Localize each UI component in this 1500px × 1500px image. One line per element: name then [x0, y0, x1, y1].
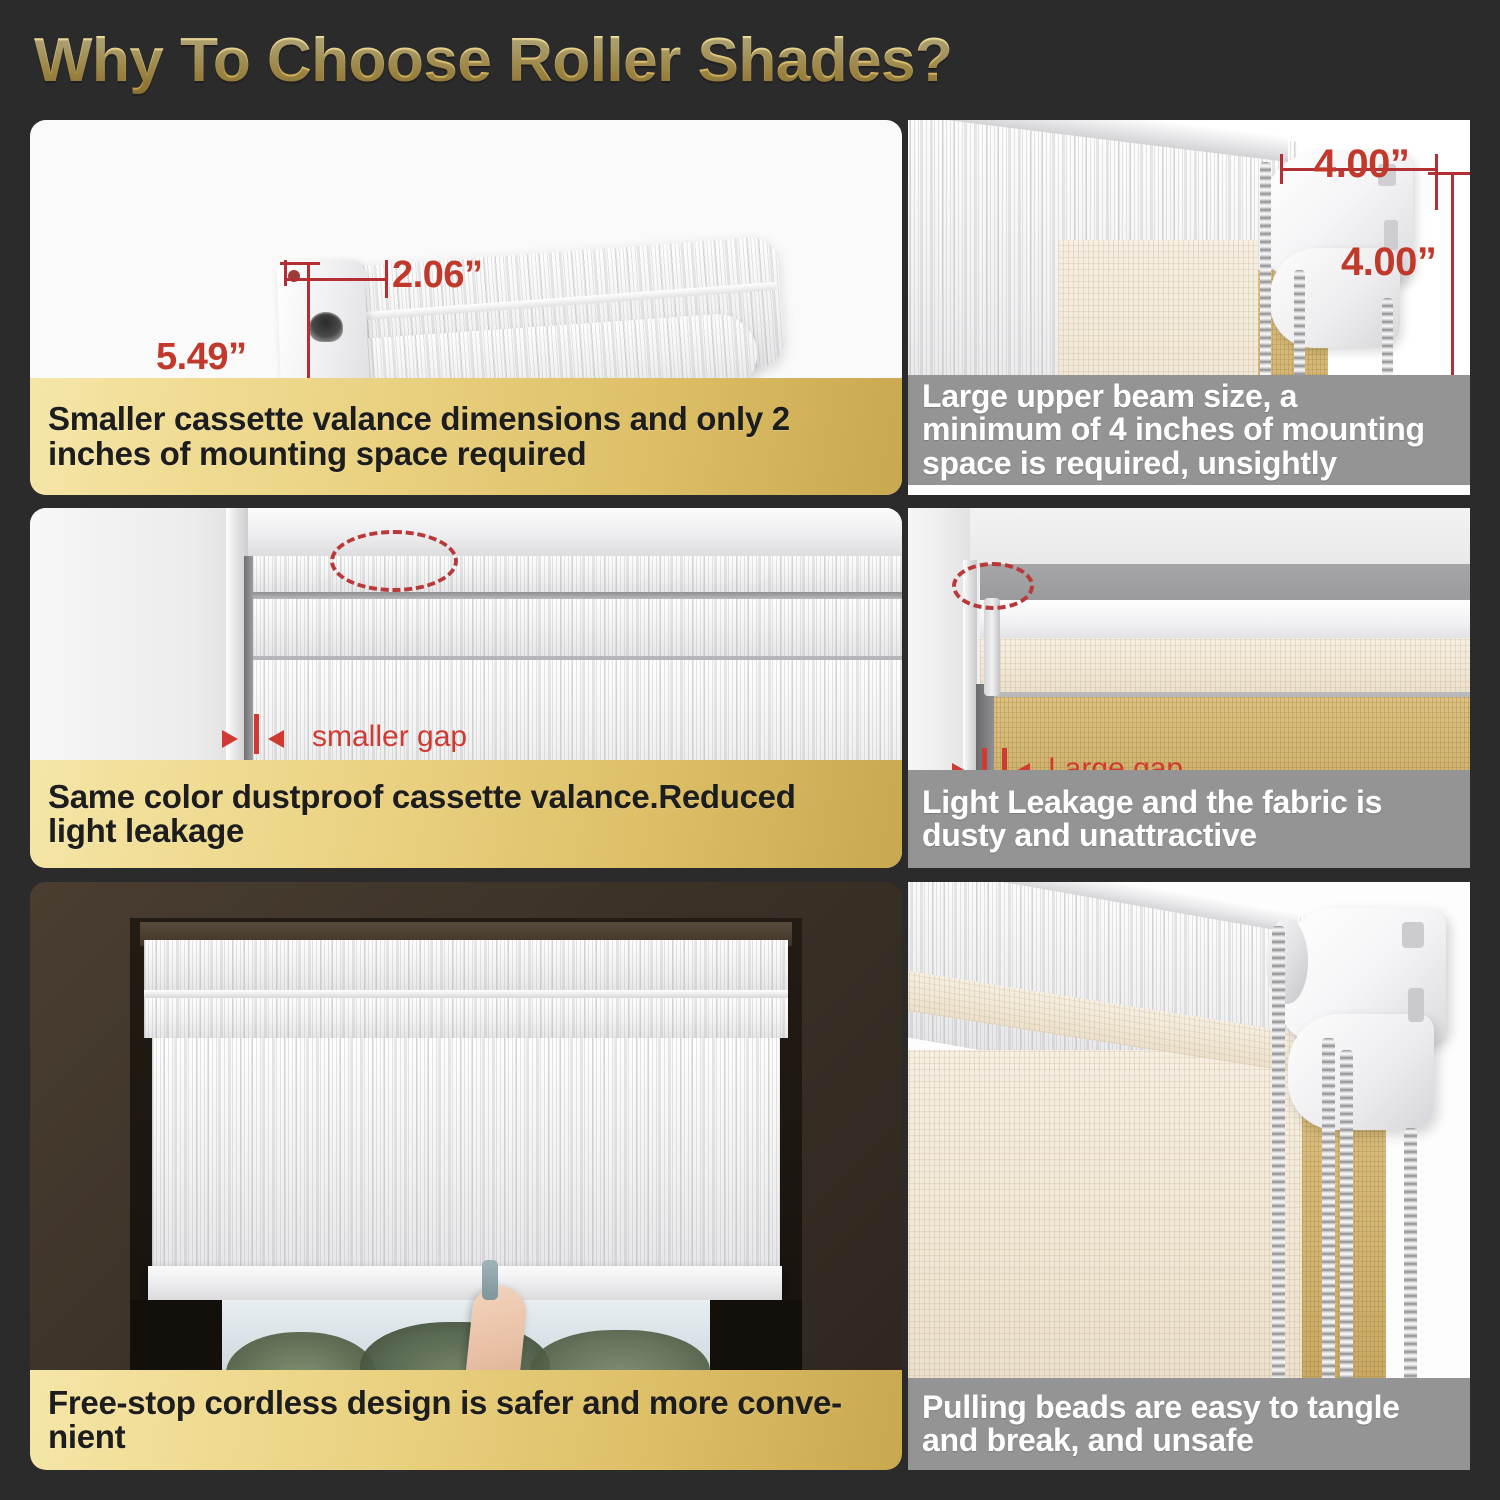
infographic-root: Why To Choose Roller Shades? 2.06” — [0, 0, 1500, 1500]
beads-bracket-slot-1 — [1402, 922, 1424, 948]
valance-roll — [252, 599, 902, 657]
beads-beige-fabric — [908, 1050, 1302, 1382]
gap-marker-bar — [254, 714, 259, 754]
beads-bracket-lower — [1288, 1014, 1434, 1130]
page-title: Why To Choose Roller Shades? — [34, 22, 1134, 100]
leak-beam-shadow — [980, 564, 1470, 602]
panel-dustproof-cassette-valance: smaller gap Same color dustproof cassett… — [30, 508, 902, 868]
gap-highlight-ellipse — [952, 562, 1034, 610]
panel-cassette-valance-dimensions: 2.06” 5.49” Smaller cassette valance dim… — [30, 120, 902, 495]
beads-bracket-slot-2 — [1408, 988, 1424, 1022]
scene-valance-seam — [144, 990, 788, 998]
bead-chain-mid — [1322, 1038, 1335, 1382]
leak-roller-tube — [980, 600, 1470, 642]
bead-chain-right — [1404, 1128, 1417, 1382]
panel-free-stop-cordless-window: Free-stop cordless design is safer and m… — [30, 882, 902, 1470]
beam-width-dim-label: 4.00” — [1314, 142, 1409, 187]
caption-panel-dustproof-cassette-valance: Same color dustproof cassette valance.Re… — [30, 760, 902, 868]
caption-text: Free-stop cordless design is safer and m… — [30, 1386, 860, 1455]
width-dim-tick-right — [385, 260, 388, 298]
gap-highlight-ellipse — [330, 530, 458, 592]
valance-gap-seam — [252, 592, 902, 599]
scene-valance-head — [144, 940, 788, 992]
beam-width-tick-left — [1280, 154, 1283, 184]
beam-height-dim-line — [1451, 172, 1454, 392]
pull-handle — [482, 1260, 498, 1300]
leak-clip — [984, 598, 1000, 696]
valance-bearing-hole — [309, 312, 343, 342]
scene-valance-roll — [144, 998, 788, 1038]
leak-wall-top — [908, 508, 1470, 568]
bead-chain-left — [1272, 926, 1285, 1382]
caption-text: Large upper beam size, a minimum of 4 in… — [908, 380, 1439, 480]
scene-shade-fabric — [152, 1038, 780, 1270]
panel-pulling-beads-tangle: Pulling beads are easy to tangle and bre… — [908, 882, 1470, 1470]
gap-arrow-left — [222, 730, 238, 748]
width-dim-label: 2.06” — [392, 254, 482, 297]
caption-text: Smaller cassette valance dimensions and … — [30, 402, 808, 471]
caption-panel-free-stop-cordless-window: Free-stop cordless design is safer and m… — [30, 1370, 902, 1470]
leak-cream-band — [980, 638, 1470, 694]
caption-panel-cassette-valance-dimensions: Smaller cassette valance dimensions and … — [30, 378, 902, 495]
caption-panel-pulling-beads-tangle: Pulling beads are easy to tangle and bre… — [908, 1378, 1470, 1470]
bead-chain-mid2 — [1340, 1050, 1353, 1382]
caption-panel-upper-beam-size: Large upper beam size, a minimum of 4 in… — [908, 375, 1470, 485]
scene-bottom-rail — [148, 1266, 782, 1300]
caption-text: Light Leakage and the fabric is dusty an… — [908, 786, 1396, 853]
beam-height-dim-label: 4.00” — [1341, 240, 1436, 285]
caption-text: Pulling beads are easy to tangle and bre… — [908, 1391, 1414, 1458]
gap-arrow-right — [268, 730, 284, 748]
height-dim-tick-top — [280, 262, 320, 265]
beam-height-tick-top — [1428, 172, 1470, 175]
beam-width-tick-right — [1435, 154, 1438, 210]
caption-panel-light-leakage-dusty-fabric: Light Leakage and the fabric is dusty an… — [908, 770, 1470, 868]
height-dim-label: 5.49” — [156, 336, 246, 379]
width-dim-line — [284, 278, 388, 281]
gap-label: smaller gap — [312, 720, 467, 754]
panel-light-leakage-dusty-fabric: Large gap Light Leakage and the fabric i… — [908, 508, 1470, 868]
caption-text: Same color dustproof cassette valance.Re… — [30, 780, 814, 849]
panel-upper-beam-size: 4.00” 4.00” Large upper beam size, a min… — [908, 120, 1470, 495]
